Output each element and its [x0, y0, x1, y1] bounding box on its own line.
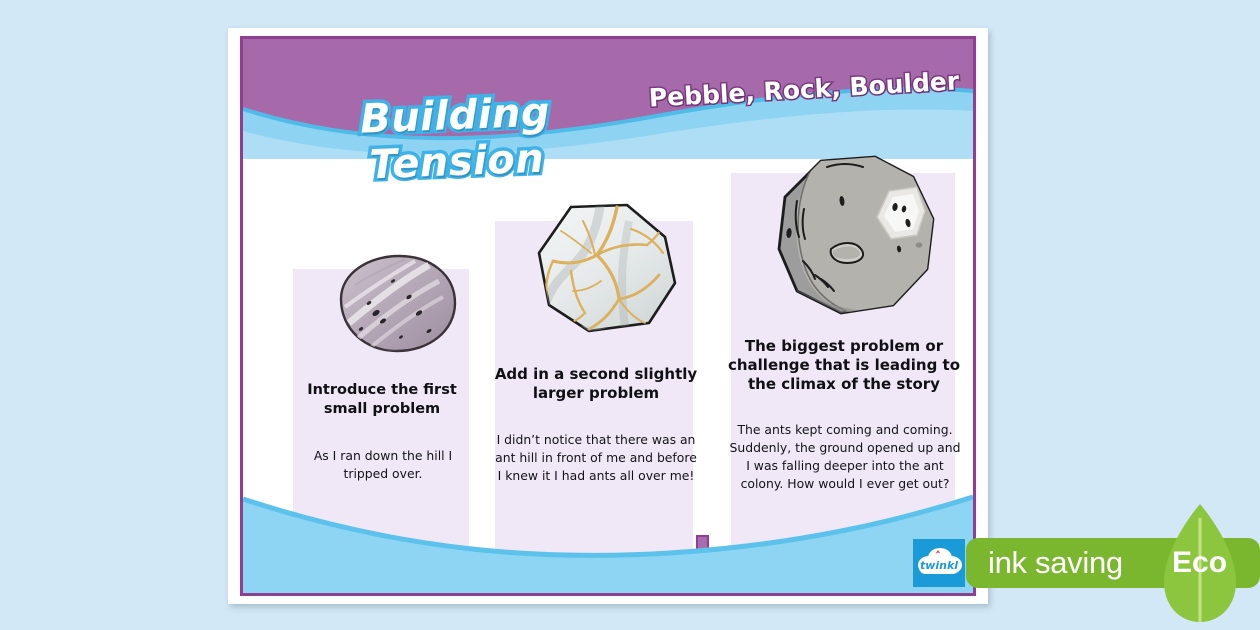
poster-header	[243, 39, 973, 159]
column-tab-2	[696, 535, 709, 577]
boulder-illustration	[771, 153, 943, 319]
column-tab-1	[259, 523, 272, 561]
column-heading-3: The biggest problem or challenge that is…	[725, 337, 963, 395]
twinkl-logo[interactable]: twinkl	[913, 539, 965, 587]
poster-sheet: Building Tension Pebble, Rock, Boulder	[228, 28, 988, 604]
column-body-1: As I ran down the hill I tripped over.	[293, 447, 473, 483]
column-body-2: I didn’t notice that there was an ant hi…	[493, 431, 699, 485]
rock-illustration	[531, 201, 685, 337]
column-heading-2: Add in a second slightly larger problem	[491, 365, 701, 403]
poster-body: Introduce the first small problem Add in…	[243, 159, 973, 593]
header-wave-icon	[243, 39, 973, 159]
eco-ink-saving-text: ink saving	[988, 545, 1123, 581]
eco-label-text: Eco	[1172, 546, 1227, 580]
pebble-illustration	[331, 251, 461, 357]
svg-text:twinkl: twinkl	[920, 559, 958, 572]
poster-border: Building Tension Pebble, Rock, Boulder	[240, 36, 976, 596]
column-heading-1: Introduce the first small problem	[291, 381, 473, 418]
column-body-3: The ants kept coming and coming. Suddenl…	[727, 421, 963, 493]
